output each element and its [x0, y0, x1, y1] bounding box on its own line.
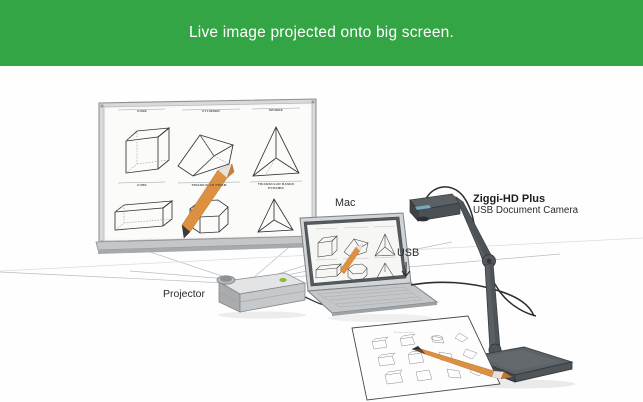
diagram-scene: CONE CYLINDER SPHERE CUBE TRIANGULAR PRI…	[0, 66, 643, 402]
desk-worksheet	[352, 316, 500, 400]
illustration-stage: Live image projected onto big screen.	[0, 0, 643, 402]
header-banner-text: Live image projected onto big screen.	[0, 0, 643, 66]
desk-worksheet-layer	[0, 66, 643, 402]
desk-worksheet-title: 3D Shapes Worksheet	[374, 332, 434, 334]
header-banner: Live image projected onto big screen.	[0, 0, 643, 66]
